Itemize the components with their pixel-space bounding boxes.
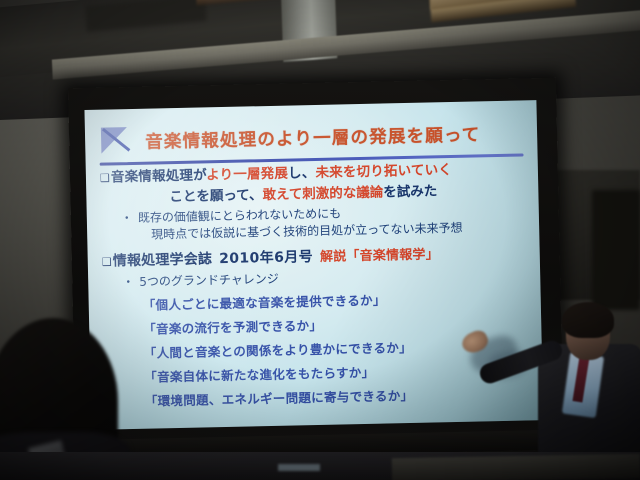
cont-seg-highlight-1: 敢えて刺激的な議論 [262, 185, 383, 204]
slide-body: ❑音楽情報処理がより一層発展し、未来を切り拓いていく ことを願って、敢えて刺激的… [86, 156, 543, 411]
desk-edge [392, 454, 640, 480]
cont-seg-plain-2: を試みた [383, 183, 437, 200]
journal-name: 情報処理学会誌 [113, 251, 213, 269]
bullet-seg-highlight-2: 未来を切り拓いていく [315, 162, 452, 181]
presenter-hair [562, 302, 614, 338]
cont-seg-plain-1: ことを願って、 [169, 187, 262, 205]
journal-issue: 2010年6月号 [219, 249, 313, 267]
bullet-dot-icon-2: ・ [122, 275, 134, 289]
bullet-square-icon: ❑ [100, 171, 111, 184]
grand-challenges-label-text: 5つのグランドチャレンジ [139, 272, 279, 289]
grand-challenge-item-5: 「環境問題、エネルギー問題に寄与できるか」 [145, 382, 543, 410]
screen-control-box [278, 464, 320, 471]
bullet-seg-plain-2: し、 [288, 165, 316, 182]
bullet-dot-icon: ・ [121, 211, 133, 225]
screen-surface: 音楽情報処理のより一層の発展を願って ❑音楽情報処理がより一層発展し、未来を切り… [84, 100, 543, 430]
slide: 音楽情報処理のより一層の発展を願って ❑音楽情報処理がより一層発展し、未来を切り… [84, 100, 543, 430]
journal-article-title: 解説「音楽情報学」 [320, 247, 439, 265]
bullet-seg-highlight-1: より一層発展 [206, 166, 288, 184]
bullet-seg-plain-1: 音楽情報処理が [111, 167, 207, 185]
slide-title: 音楽情報処理のより一層の発展を願って [145, 121, 481, 153]
bullet-square-icon-2: ❑ [102, 255, 113, 268]
right-wall-dark-object [592, 190, 640, 310]
grand-challenge-item-1: 「個人ごとに最適な音楽を提供できるか」 [143, 286, 541, 314]
lecture-room-scene: 音楽情報処理のより一層の発展を願って ❑音楽情報処理がより一層発展し、未来を切り… [0, 0, 640, 480]
projection-screen: 音楽情報処理のより一層の発展を願って ❑音楽情報処理がより一層発展し、未来を切り… [68, 78, 564, 461]
